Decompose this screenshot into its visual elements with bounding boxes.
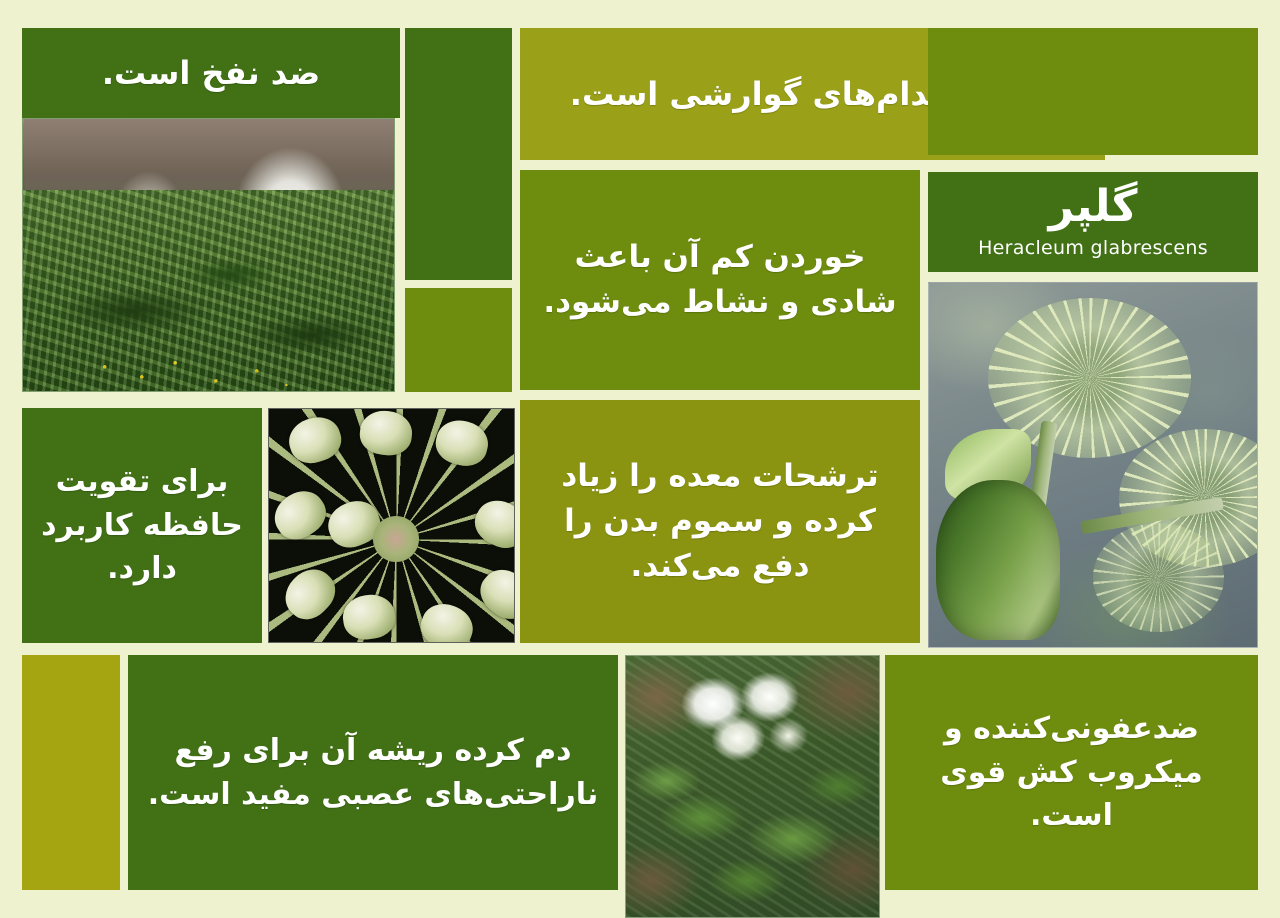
photo-golpar-field [22,118,395,392]
plant-name-persian: گلپر [1049,185,1138,229]
fact-nervous-relief-tile: دم کرده ریشه آن برای رفع ناراحتی‌های عصب… [128,655,618,890]
photo-flower-umbel [928,282,1258,648]
white-flower-head [666,672,823,787]
decor-block-mid-upper [405,288,512,392]
fact-disinfectant-tile: ضدعفونی‌کننده و میکروب کش قوی است. [885,655,1258,890]
photo-seed-umbel-closeup [268,408,515,643]
decor-block-dark-upper [405,28,512,280]
golpar-infographic-poster: ضد نفخ است. مقوی اندام‌های گوارشی است. خ… [0,0,1280,918]
umbel-sheath-bract [936,480,1061,640]
plant-title-tile: گلپر Heracleum glabrescens [928,172,1258,272]
mountain-sky-layer [23,119,394,195]
fact-gastric-secretion-tile: ترشحات معده را زیاد کرده و سموم بدن را د… [520,400,920,643]
decor-block-yellow-bottomleft [22,655,120,890]
fact-anti-bloating-tile: ضد نفخ است. [22,28,400,118]
fact-joy-vitality-tile: خوردن کم آن باعث شادی و نشاط می‌شود. [520,170,920,390]
plant-name-latin: Heracleum glabrescens [978,237,1208,259]
umbel-head-tertiary [1093,523,1224,632]
decor-block-mid-topright [928,28,1258,155]
photo-whole-plant [625,655,880,918]
fact-memory-booster-tile: برای تقویت حافظه کاربرد دارد. [22,408,262,643]
field-foliage-layer [23,190,394,391]
